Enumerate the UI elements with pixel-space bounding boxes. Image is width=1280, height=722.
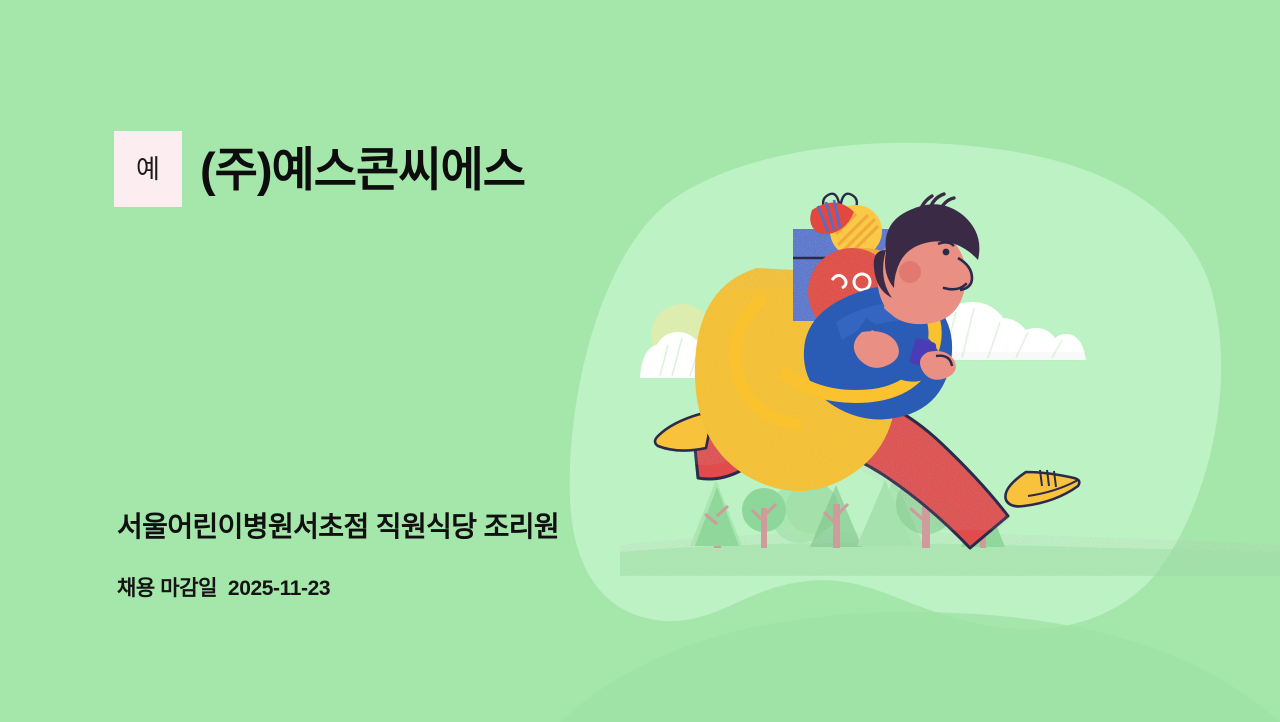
deadline-label: 채용 마감일 — [117, 577, 217, 600]
job-posting-card: 예 (주)예스콘씨에스 서울어린이병원서초점 직원식당 조리원 채용 마감일 2… — [0, 0, 1280, 722]
poster-illustration — [0, 0, 1280, 722]
deadline-line: 채용 마감일 2025-11-23 — [117, 578, 330, 599]
company-logo-badge[interactable]: 예 — [114, 131, 182, 207]
cheek — [899, 261, 921, 283]
eye — [943, 249, 950, 256]
company-name: (주)예스콘씨에스 — [200, 146, 525, 193]
deadline-date: 2025-11-23 — [228, 577, 330, 600]
job-title: 서울어린이병원서초점 직원식당 조리원 — [117, 513, 559, 541]
poster-header: 예 (주)예스콘씨에스 — [114, 131, 525, 207]
company-logo-badge-text: 예 — [136, 156, 160, 182]
